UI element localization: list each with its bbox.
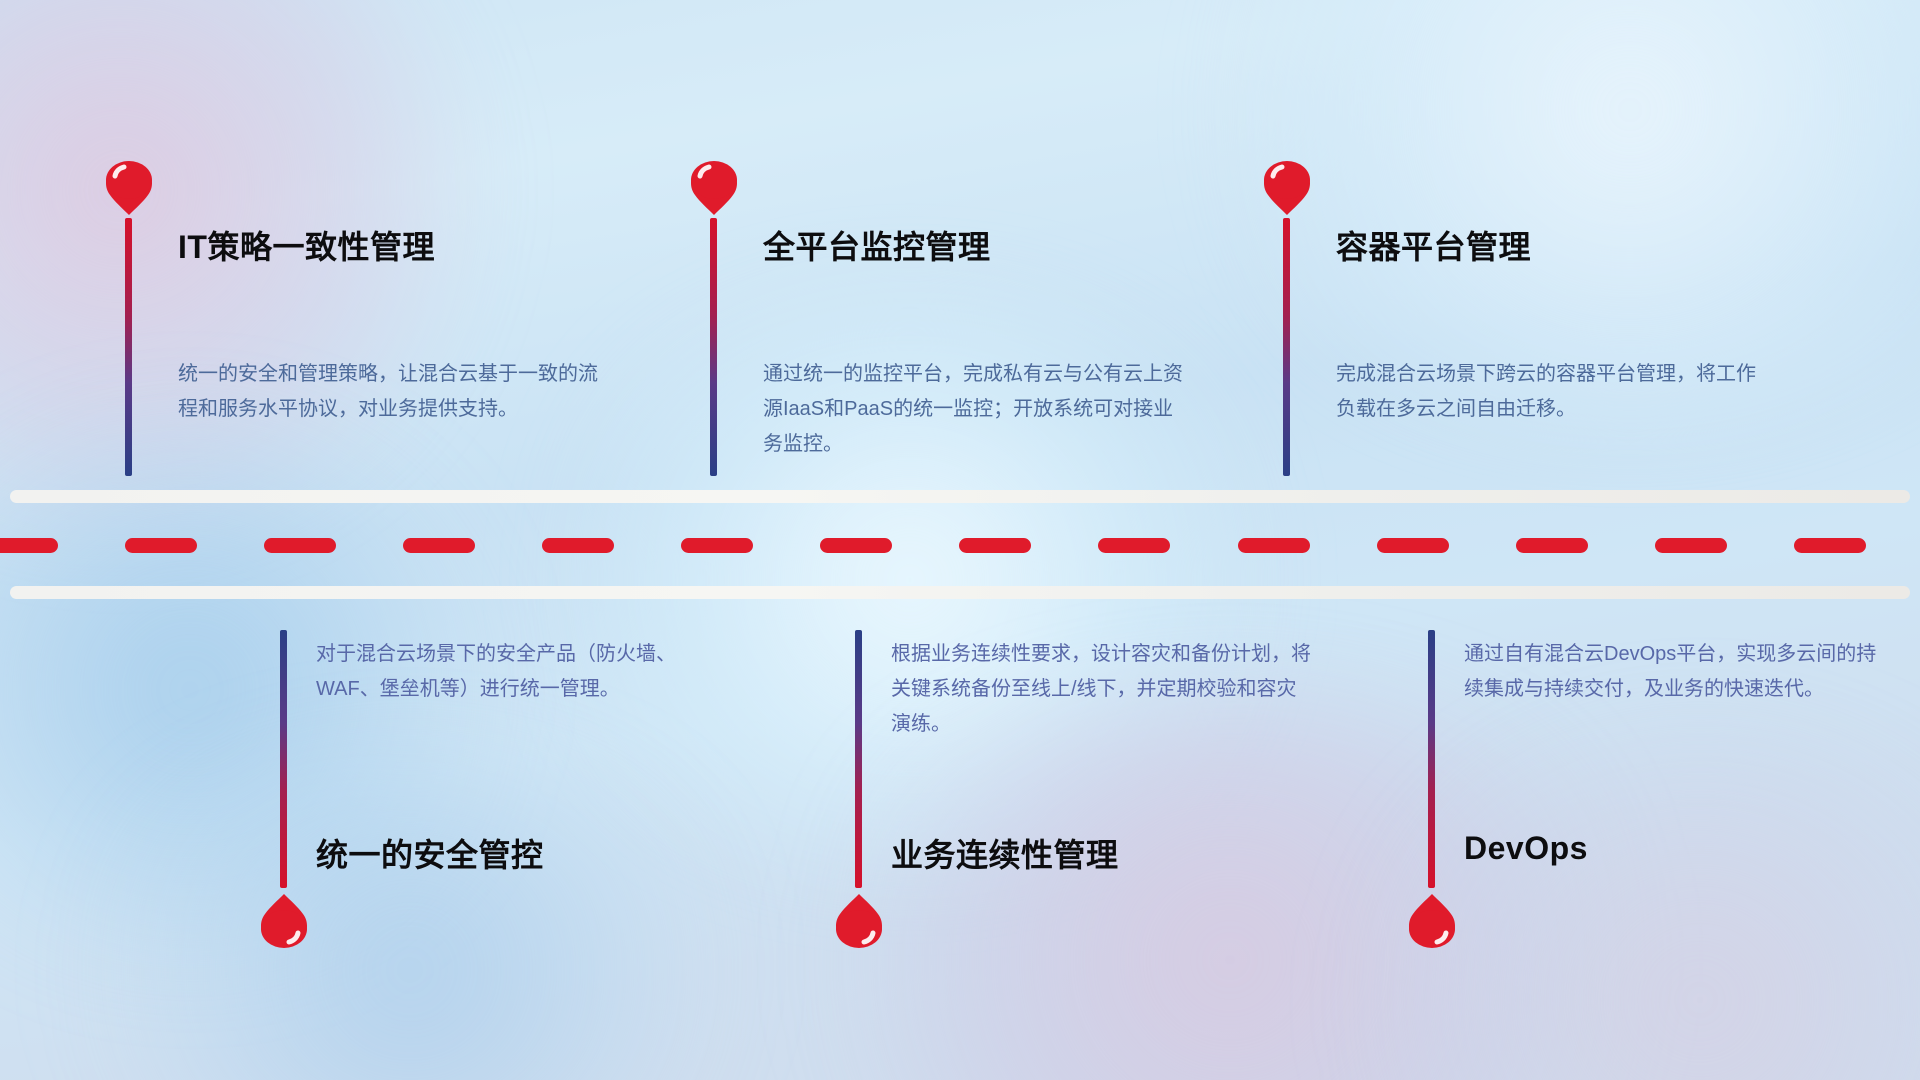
road-dash — [125, 538, 197, 553]
road-dash — [1098, 538, 1170, 553]
road-dash — [681, 538, 753, 553]
cloud-pin-icon — [1398, 882, 1466, 949]
road-edge-bottom — [10, 586, 1910, 599]
bottom-item-body: 通过自有混合云DevOps平台，实现多云间的持续集成与持续交付，及业务的快速迭代… — [1464, 637, 1884, 707]
background-blob-pink-left — [0, 0, 500, 540]
road-dash — [403, 538, 475, 553]
bottom-item-body: 对于混合云场景下的安全产品（防火墙、WAF、堡垒机等）进行统一管理。 — [316, 637, 736, 707]
top-stem-3 — [1283, 218, 1290, 476]
road-dash — [1516, 538, 1588, 553]
road-dash — [820, 538, 892, 553]
road-dash — [1794, 538, 1866, 553]
road-divider — [0, 490, 1920, 600]
road-dash — [1377, 538, 1449, 553]
road-dash — [1655, 538, 1727, 553]
infographic-canvas: IT策略一致性管理 统一的安全和管理策略，让混合云基于一致的流程和服务水平协议，… — [0, 0, 1920, 1080]
road-dash — [542, 538, 614, 553]
bottom-item-body: 根据业务连续性要求，设计容灾和备份计划，将关键系统备份至线上/线下，并定期校验和… — [891, 637, 1311, 742]
cloud-pin-icon — [680, 160, 748, 227]
road-dash — [1238, 538, 1310, 553]
top-stem-1 — [125, 218, 132, 476]
top-item-title: 容器平台管理 — [1336, 222, 1531, 268]
road-edge-top — [10, 490, 1910, 503]
top-item-body: 统一的安全和管理策略，让混合云基于一致的流程和服务水平协议，对业务提供支持。 — [178, 357, 598, 427]
bottom-stem-2 — [855, 630, 862, 888]
cloud-pin-icon — [1253, 160, 1321, 227]
road-dash — [959, 538, 1031, 553]
road-dash — [0, 538, 58, 553]
top-item-title: IT策略一致性管理 — [178, 222, 435, 268]
bottom-item-title: 业务连续性管理 — [891, 830, 1119, 876]
background-blob-blue-bottom-left — [60, 760, 760, 1080]
background-blob-lilac-bottom-center — [780, 700, 1680, 1080]
cloud-pin-icon — [250, 882, 318, 949]
bottom-stem-3 — [1428, 630, 1435, 888]
top-stem-2 — [710, 218, 717, 476]
cloud-pin-icon — [825, 882, 893, 949]
top-item-title: 全平台监控管理 — [763, 222, 991, 268]
top-item-body: 完成混合云场景下跨云的容器平台管理，将工作负载在多云之间自由迁移。 — [1336, 357, 1756, 427]
road-dashed-centerline — [0, 538, 1920, 553]
road-dash — [264, 538, 336, 553]
bottom-item-title: 统一的安全管控 — [316, 830, 544, 876]
cloud-pin-icon — [95, 160, 163, 227]
bottom-stem-1 — [280, 630, 287, 888]
bottom-item-title: DevOps — [1464, 830, 1588, 867]
top-item-body: 通过统一的监控平台，完成私有云与公有云上资源IaaS和PaaS的统一监控；开放系… — [763, 357, 1183, 462]
